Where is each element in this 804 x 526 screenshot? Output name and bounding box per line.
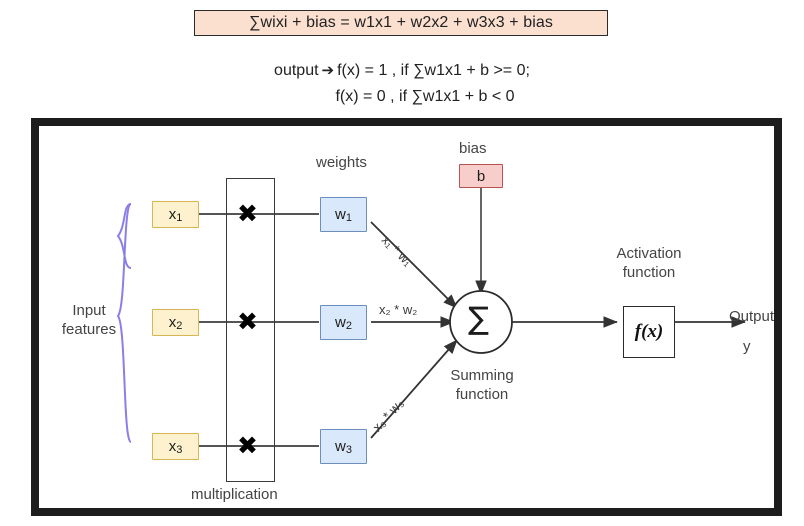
activation-line-2: function <box>584 263 714 282</box>
product-label-x2w2: x₂ * w₂ <box>379 302 417 317</box>
multiply-icon-3: ✖ <box>237 433 258 458</box>
input-features-line-1: Input <box>47 301 131 320</box>
perceptron-diagram: ✖ ✖ ✖ x1 x2 x3 w1 w2 w3 b ∑ f(x) Input f… <box>31 118 782 516</box>
input-x1-base: x <box>169 206 177 223</box>
summing-line-2: function <box>417 385 547 404</box>
input-node-x1[interactable]: x1 <box>152 201 199 228</box>
input-node-x3[interactable]: x3 <box>152 433 199 460</box>
summing-function-label: Summing function <box>417 366 547 404</box>
multiply-icon-2: ✖ <box>237 309 258 334</box>
weight-w2-base: w <box>335 314 346 331</box>
output-line-1: Output <box>729 308 774 325</box>
weight-w1-base: w <box>335 206 346 223</box>
output-rule-line-2: f(x) = 0 , if ∑w1x1 + b < 0 <box>0 84 804 110</box>
weight-w1-sub: 1 <box>346 212 352 224</box>
bias-node[interactable]: b <box>459 164 503 188</box>
bias-value-text: b <box>477 168 485 185</box>
activation-symbol-text: f(x) <box>635 321 663 343</box>
weight-node-w1[interactable]: w1 <box>320 197 367 232</box>
weight-w2-sub: 2 <box>346 320 352 332</box>
output-label: Output y <box>729 302 782 362</box>
summing-line-1: Summing <box>417 366 547 385</box>
weight-w3-sub: 3 <box>346 444 352 456</box>
summation-icon: ∑ <box>468 304 489 335</box>
output-line-2: y <box>729 332 782 362</box>
output-rule-block: output➔f(x) = 1 , if ∑w1x1 + b >= 0; f(x… <box>0 58 804 110</box>
multiplication-label: multiplication <box>191 486 278 503</box>
arrow-w1-to-sum <box>371 222 457 308</box>
activation-function-box[interactable]: f(x) <box>623 306 675 358</box>
sum-formula-box: ∑wixi + bias = w1x1 + w2x2 + w3x3 + bias <box>194 10 608 36</box>
activation-function-label: Activation function <box>584 244 714 282</box>
activation-line-1: Activation <box>584 244 714 263</box>
weight-node-w3[interactable]: w3 <box>320 429 367 464</box>
right-arrow-icon: ➔ <box>319 62 338 79</box>
input-features-label: Input features <box>47 301 131 339</box>
weight-node-w2[interactable]: w2 <box>320 305 367 340</box>
input-x2-base: x <box>169 314 177 331</box>
weights-label: weights <box>316 154 367 171</box>
input-x2-sub: 2 <box>176 320 182 332</box>
input-x3-sub: 3 <box>176 444 182 456</box>
input-node-x2[interactable]: x2 <box>152 309 199 336</box>
output-rule-line-1: f(x) = 1 , if ∑w1x1 + b >= 0; <box>337 62 530 79</box>
multiply-icon-1: ✖ <box>237 201 258 226</box>
output-word: output <box>274 62 318 79</box>
bias-label: bias <box>459 140 487 157</box>
input-x1-sub: 1 <box>176 212 182 224</box>
input-x3-base: x <box>169 438 177 455</box>
weight-w3-base: w <box>335 438 346 455</box>
input-features-line-2: features <box>47 320 131 339</box>
sum-formula-text: ∑wixi + bias = w1x1 + w2x2 + w3x3 + bias <box>249 14 553 32</box>
